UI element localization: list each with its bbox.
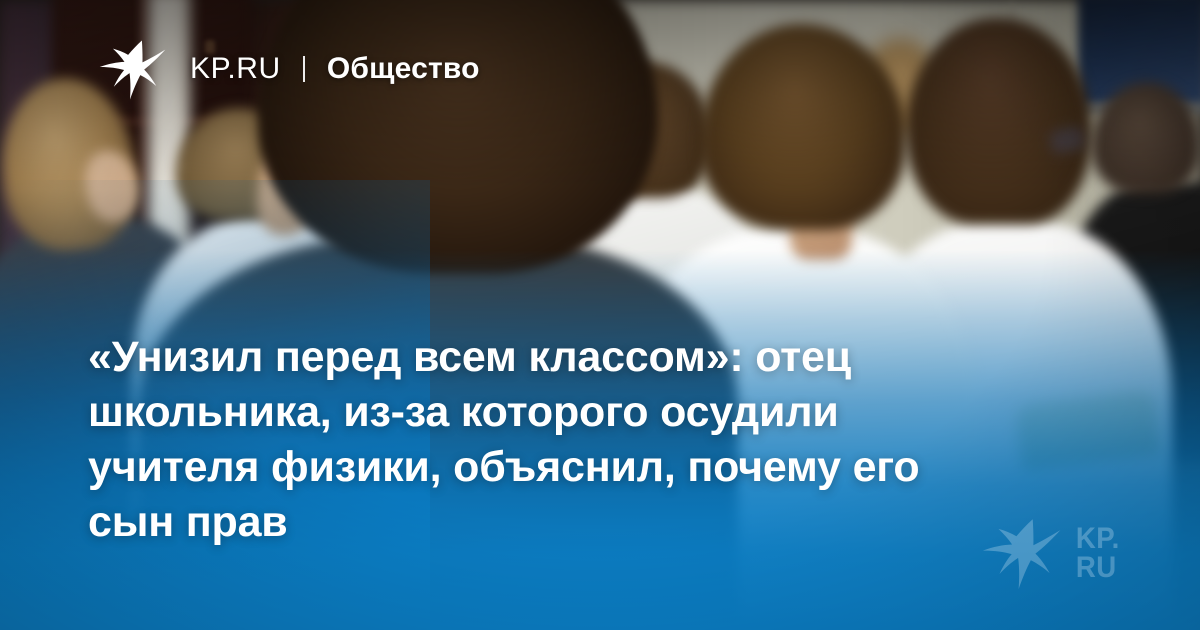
headline-line-3: учителя физики, объяснил, почему его bbox=[88, 440, 1063, 495]
headline-line-2: школьника, из-за которого осудили bbox=[88, 385, 1063, 440]
header-divider bbox=[303, 56, 305, 82]
headline-line-1: «Унизил перед всем классом»: отец bbox=[88, 330, 1063, 385]
social-share-card: KP.RU Общество «Унизил перед всем классо… bbox=[0, 0, 1200, 630]
site-header: KP.RU Общество bbox=[96, 36, 480, 102]
watermark-line-1: KP. bbox=[1076, 524, 1120, 553]
watermark-text: KP. RU bbox=[1076, 524, 1120, 582]
headline-line-4: сын прав bbox=[88, 495, 1063, 550]
kp-swallow-bird-icon[interactable] bbox=[96, 36, 168, 102]
article-headline: «Унизил перед всем классом»: отец школьн… bbox=[88, 330, 1063, 550]
watermark-line-2: RU bbox=[1076, 553, 1120, 582]
rubric-label[interactable]: Общество bbox=[327, 54, 480, 84]
site-brand-name[interactable]: KP.RU bbox=[190, 54, 281, 84]
